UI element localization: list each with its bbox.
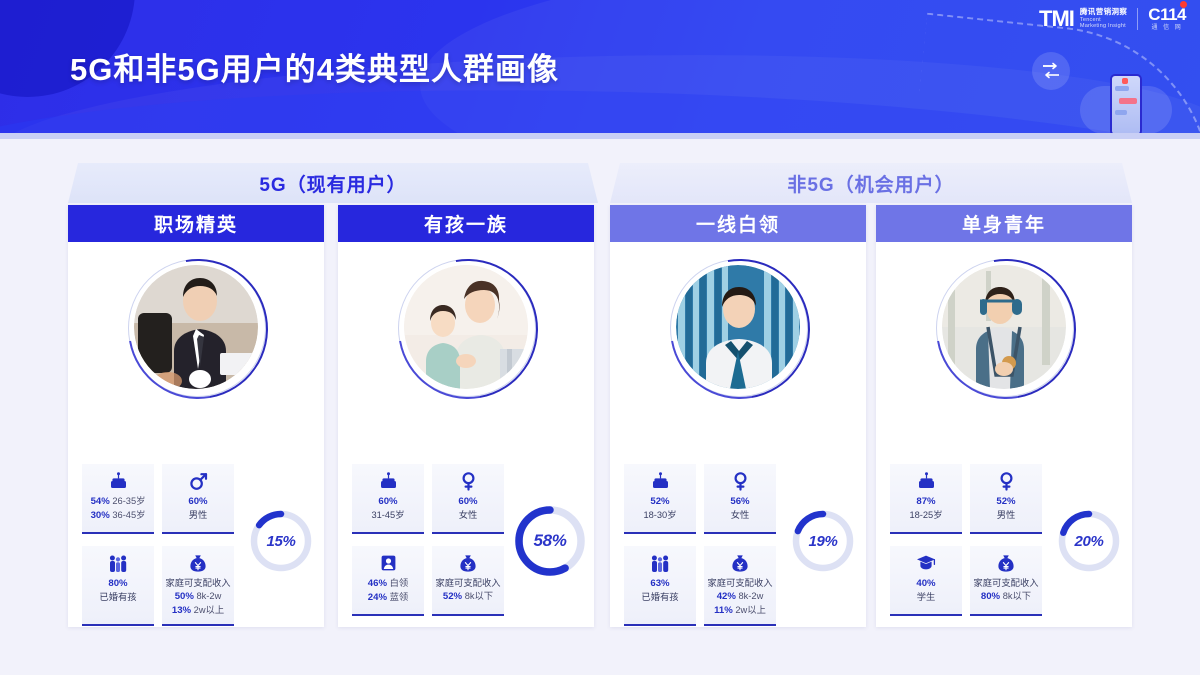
- stat-text: 36-45岁: [112, 510, 145, 520]
- stat-line: 52%: [972, 495, 1040, 509]
- persona-stats: 52% 18-30岁 56% 女性: [624, 464, 776, 626]
- stat-caption: 男性: [972, 509, 1040, 522]
- stat-caption: 家庭可支配收入: [434, 577, 502, 590]
- cake-icon: [892, 471, 960, 491]
- header-underline: [0, 133, 1200, 139]
- persona-portrait-wrap: [676, 265, 800, 389]
- persona-portrait-wrap: [134, 265, 258, 389]
- stat-line: 42% 8k-2w: [706, 590, 774, 604]
- female-icon: [972, 471, 1040, 491]
- persona-share-donut: 58%: [512, 503, 588, 579]
- stat-text: 白领: [390, 578, 409, 588]
- brand-logos: TMI 腾讯营销洞察 Tencent Marketing Insight C11…: [1039, 6, 1186, 31]
- stat-value: 60%: [458, 496, 477, 507]
- network-flow-icon: [1032, 52, 1070, 90]
- stat-cell-gender: 60% 女性: [432, 464, 504, 534]
- portrait-ring-accent: [371, 232, 566, 427]
- stat-cell-income: 家庭可支配收入 52% 8k以下: [432, 546, 504, 616]
- stat-line: 13% 2w以上: [164, 604, 232, 618]
- stat-cell-age: 60% 31-45岁: [352, 464, 424, 534]
- stat-line: 30% 36-45岁: [84, 509, 152, 523]
- persona-stats: 60% 31-45岁 60% 女性: [352, 464, 504, 616]
- persona-card-body: 87% 18-25岁 52% 男性: [876, 265, 1132, 627]
- stat-text: 8k-2w: [738, 591, 763, 601]
- stat-line: 52% 8k以下: [434, 590, 502, 604]
- male-icon: [164, 471, 232, 491]
- stat-line: 24% 蓝领: [354, 591, 422, 605]
- stat-value: 56%: [730, 496, 749, 507]
- persona-card-body: 52% 18-30岁 56% 女性: [610, 265, 866, 627]
- stat-caption: 家庭可支配收入: [164, 577, 232, 590]
- stat-line: 56%: [706, 495, 774, 509]
- stat-value: 60%: [188, 496, 207, 507]
- portrait-ring-accent: [643, 232, 838, 427]
- stat-line: 80%: [84, 577, 152, 591]
- stats-row-top: 54% 26-35岁 30% 36-45岁 60% 男性: [82, 464, 234, 534]
- stats-row-bottom: 46% 白领 24% 蓝领 家庭可支配收入 52% 8k以下: [352, 546, 504, 616]
- persona-card-title: 有孩一族: [424, 210, 508, 237]
- stats-row-top: 87% 18-25岁 52% 男性: [890, 464, 1042, 534]
- stat-caption: 18-25岁: [892, 509, 960, 522]
- stat-value: 24%: [368, 592, 387, 603]
- female-icon: [434, 471, 502, 491]
- group-header-5g-label: 5G（现有用户）: [259, 170, 406, 197]
- stat-cell-income: 家庭可支配收入 50% 8k-2w 13% 2w以上: [162, 546, 234, 626]
- stat-line: 63%: [626, 577, 694, 591]
- logo-divider: [1137, 8, 1138, 30]
- persona-stats: 87% 18-25岁 52% 男性: [890, 464, 1042, 616]
- graduate-icon: [892, 553, 960, 573]
- slide-header: 5G和非5G用户的4类典型人群画像 TMI 腾讯营销洞察 Tencent Mar…: [0, 0, 1200, 139]
- persona-card[interactable]: 单身青年: [876, 205, 1132, 627]
- portrait-ring-accent: [909, 232, 1104, 427]
- persona-card-title-bar: 有孩一族: [338, 205, 594, 242]
- group-header-5g: 5G（现有用户）: [68, 163, 598, 203]
- stat-caption: 女性: [706, 509, 774, 522]
- persona-card-title-bar: 职场精英: [68, 205, 324, 242]
- stat-text: 蓝领: [390, 592, 409, 602]
- stat-value: 40%: [916, 578, 935, 589]
- stat-value: 80%: [981, 591, 1000, 602]
- tmi-english-line2: Marketing Insight: [1080, 23, 1127, 29]
- donut-value-label: 19%: [790, 508, 856, 574]
- phone-bubble-3: [1115, 110, 1127, 115]
- phone-bubble-1: [1115, 86, 1129, 91]
- persona-share-donut: 19%: [790, 508, 856, 574]
- stat-cell-age: 54% 26-35岁 30% 36-45岁: [82, 464, 154, 534]
- persona-card-title-bar: 单身青年: [876, 205, 1132, 242]
- stats-row-bottom: 63% 已婚有孩 家庭可支配收入 42% 8k-2w 11% 2w以上: [624, 546, 776, 626]
- phone-pin-icon: [1122, 78, 1128, 84]
- tmi-subtitle: 腾讯营销洞察 Tencent Marketing Insight: [1080, 8, 1127, 29]
- group-header-non5g: 非5G（机会用户）: [610, 163, 1132, 203]
- persona-card[interactable]: 有孩一族: [338, 205, 594, 627]
- stat-text: 26-35岁: [112, 496, 145, 506]
- tmi-wordmark: TMI: [1039, 8, 1074, 30]
- persona-share-donut: 20%: [1056, 508, 1122, 574]
- stat-cell-income: 家庭可支配收入 80% 8k以下: [970, 546, 1042, 616]
- stat-value: 50%: [175, 591, 194, 602]
- persona-card-body: 54% 26-35岁 30% 36-45岁 60% 男性: [68, 265, 324, 627]
- stat-cell-family: 80% 已婚有孩: [82, 546, 154, 626]
- stat-value: 42%: [717, 591, 736, 602]
- stat-value: 63%: [650, 578, 669, 589]
- c114-wordmark: C114: [1148, 6, 1186, 25]
- stat-value: 52%: [996, 496, 1015, 507]
- persona-stats: 54% 26-35岁 30% 36-45岁 60% 男性: [82, 464, 234, 626]
- stat-value: 52%: [443, 591, 462, 602]
- stat-text: 8k以下: [465, 591, 493, 601]
- stat-caption: 18-30岁: [626, 509, 694, 522]
- stats-row-top: 52% 18-30岁 56% 女性: [624, 464, 776, 534]
- money-bag-icon: [972, 553, 1040, 573]
- stat-cell-family: 63% 已婚有孩: [624, 546, 696, 626]
- stat-line: 11% 2w以上: [706, 604, 774, 618]
- cake-icon: [354, 471, 422, 491]
- c114-subtitle: 通 信 网: [1148, 25, 1186, 32]
- persona-card[interactable]: 职场精英: [68, 205, 324, 627]
- stat-text: 2w以上: [735, 605, 765, 615]
- phone-illustration: [1110, 74, 1142, 136]
- phone-bubble-2: [1119, 98, 1137, 104]
- page-title: 5G和非5G用户的4类典型人群画像: [70, 44, 559, 89]
- stat-cell-occupation: 46% 白领 24% 蓝领: [352, 546, 424, 616]
- persona-portrait-wrap: [942, 265, 1066, 389]
- family-icon: [626, 553, 694, 573]
- persona-card-title: 职场精英: [154, 210, 238, 237]
- cake-icon: [626, 471, 694, 491]
- stat-value: 30%: [91, 510, 110, 521]
- stat-cell-age: 87% 18-25岁: [890, 464, 962, 534]
- stat-text: 8k以下: [1003, 591, 1031, 601]
- stat-text: 8k-2w: [196, 591, 221, 601]
- stat-value: 87%: [916, 496, 935, 507]
- cake-icon: [84, 471, 152, 491]
- stat-line: 80% 8k以下: [972, 590, 1040, 604]
- money-bag-icon: [164, 553, 232, 573]
- stat-line: 87%: [892, 495, 960, 509]
- persona-portrait-wrap: [404, 265, 528, 389]
- stats-row-top: 60% 31-45岁 60% 女性: [352, 464, 504, 534]
- stat-line: 40%: [892, 577, 960, 591]
- stat-line: 60%: [354, 495, 422, 509]
- stat-value: 80%: [108, 578, 127, 589]
- stat-value: 46%: [368, 578, 387, 589]
- stat-cell-gender: 60% 男性: [162, 464, 234, 534]
- person-badge-icon: [354, 553, 422, 573]
- money-bag-icon: [434, 553, 502, 573]
- stats-row-bottom: 80% 已婚有孩 家庭可支配收入 50% 8k-2w 13% 2w以上: [82, 546, 234, 626]
- donut-value-label: 58%: [512, 503, 588, 579]
- persona-card-title: 单身青年: [962, 210, 1046, 237]
- stat-value: 52%: [650, 496, 669, 507]
- stat-caption: 31-45岁: [354, 509, 422, 522]
- tmi-dot-icon: [1180, 1, 1187, 8]
- tmi-chinese-name: 腾讯营销洞察: [1080, 8, 1127, 17]
- stat-cell-gender: 56% 女性: [704, 464, 776, 534]
- stat-cell-gender: 52% 男性: [970, 464, 1042, 534]
- group-header-non5g-label: 非5G（机会用户）: [787, 170, 954, 197]
- stat-cell-income: 家庭可支配收入 42% 8k-2w 11% 2w以上: [704, 546, 776, 626]
- stat-line: 52%: [626, 495, 694, 509]
- donut-value-label: 15%: [248, 508, 314, 574]
- female-icon: [706, 471, 774, 491]
- stat-line: 50% 8k-2w: [164, 590, 232, 604]
- persona-card-body: 60% 31-45岁 60% 女性: [338, 265, 594, 627]
- family-icon: [84, 553, 152, 573]
- stat-caption: 男性: [164, 509, 232, 522]
- persona-share-donut: 15%: [248, 508, 314, 574]
- stat-text: 2w以上: [194, 605, 224, 615]
- stat-caption: 已婚有孩: [84, 591, 152, 604]
- money-bag-icon: [706, 553, 774, 573]
- stat-line: 60%: [164, 495, 232, 509]
- stats-row-bottom: 40% 学生 家庭可支配收入 80% 8k以下: [890, 546, 1042, 616]
- stat-caption: 学生: [892, 591, 960, 604]
- donut-value-label: 20%: [1056, 508, 1122, 574]
- persona-card-title: 一线白领: [696, 210, 780, 237]
- stat-caption: 家庭可支配收入: [972, 577, 1040, 590]
- stat-caption: 已婚有孩: [626, 591, 694, 604]
- stat-value: 11%: [714, 605, 733, 616]
- stat-line: 60%: [434, 495, 502, 509]
- stat-line: 54% 26-35岁: [84, 495, 152, 509]
- tmi-logo: TMI 腾讯营销洞察 Tencent Marketing Insight: [1039, 8, 1127, 30]
- persona-card-title-bar: 一线白领: [610, 205, 866, 242]
- stat-line: 46% 白领: [354, 577, 422, 591]
- stat-cell-age: 52% 18-30岁: [624, 464, 696, 534]
- persona-card[interactable]: 一线白领: [610, 205, 866, 627]
- stat-value: 13%: [172, 605, 191, 616]
- portrait-ring-accent: [101, 232, 296, 427]
- stat-cell-occupation: 40% 学生: [890, 546, 962, 616]
- stat-caption: 家庭可支配收入: [706, 577, 774, 590]
- slide-root: 5G和非5G用户的4类典型人群画像 TMI 腾讯营销洞察 Tencent Mar…: [0, 0, 1200, 675]
- c114-logo: C114 通 信 网: [1148, 6, 1186, 31]
- stat-value: 54%: [91, 496, 110, 507]
- stat-value: 60%: [378, 496, 397, 507]
- stat-caption: 女性: [434, 509, 502, 522]
